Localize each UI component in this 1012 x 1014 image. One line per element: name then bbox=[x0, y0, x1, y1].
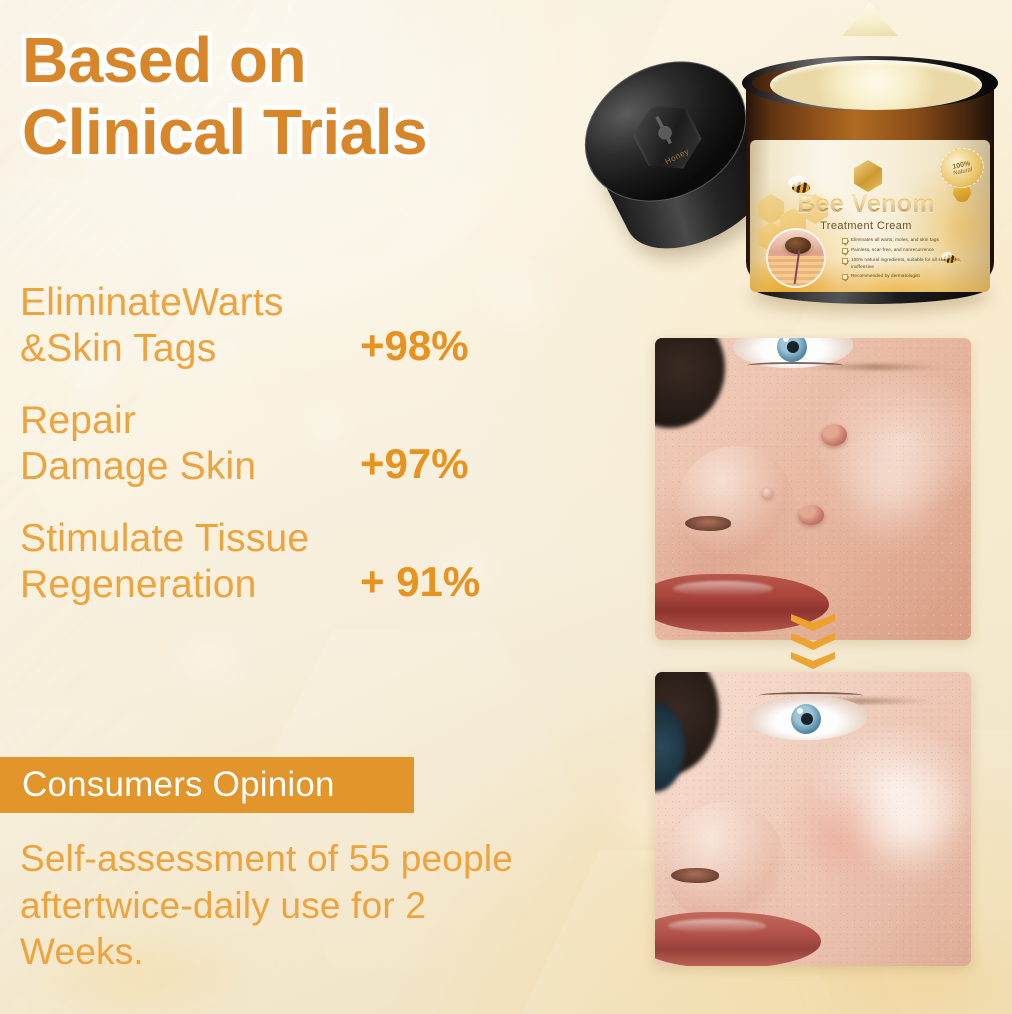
description-line2: aftertwice-daily use for 2 bbox=[20, 883, 580, 930]
eyelash bbox=[747, 362, 843, 369]
checkbox-icon bbox=[842, 274, 848, 280]
consumers-opinion-label: Consumers Opinion bbox=[0, 765, 335, 805]
product-name: Bee Venom bbox=[776, 190, 956, 219]
feature-text: Eliminates all warts, moles, and skin ta… bbox=[851, 237, 939, 244]
benefit-percent: +98% bbox=[360, 322, 469, 372]
benefit-percent: +97% bbox=[360, 440, 469, 490]
product-feature-list: Eliminates all warts, moles, and skin ta… bbox=[842, 237, 984, 283]
bee-emblem-icon: Honey bbox=[625, 92, 710, 182]
jar-body: Bee Venom Treatment Cream 100% Natural E… bbox=[746, 20, 994, 316]
jar-rim-inner bbox=[752, 64, 980, 102]
lip-shine bbox=[668, 919, 766, 934]
benefit-label-line2: &Skin Tags bbox=[20, 326, 360, 372]
lip-shine bbox=[673, 581, 773, 596]
benefits-list: EliminateWarts &Skin Tags +98% Repair Da… bbox=[0, 280, 600, 630]
consumers-opinion-banner: Consumers Opinion bbox=[0, 757, 414, 813]
wart bbox=[821, 424, 847, 446]
eyelash bbox=[759, 692, 863, 699]
chevron-down-icon bbox=[791, 652, 835, 669]
benefit-label-line2: Damage Skin bbox=[20, 444, 360, 490]
description-line1: Self-assessment of 55 people bbox=[20, 836, 580, 883]
nostril bbox=[685, 516, 731, 531]
cheek-highlight bbox=[825, 428, 955, 548]
benefit-row: Repair Damage Skin +97% bbox=[0, 398, 600, 490]
list-item: Recommended by dermatologist bbox=[842, 273, 984, 280]
benefit-label: EliminateWarts &Skin Tags bbox=[0, 280, 360, 372]
wart bbox=[798, 505, 824, 525]
nose bbox=[665, 802, 785, 926]
cheek-highlight bbox=[843, 764, 971, 878]
skin-cross-section-diagram bbox=[766, 228, 826, 288]
cream-peak bbox=[842, 2, 898, 36]
feature-text: Recommended by dermatologist bbox=[851, 273, 920, 280]
feature-text: 100% natural ingredients, suitable for a… bbox=[851, 257, 984, 269]
benefit-label: Repair Damage Skin bbox=[0, 398, 360, 490]
cream-surface bbox=[770, 60, 982, 110]
list-item: Eliminates all warts, moles, and skin ta… bbox=[842, 237, 984, 244]
natural-badge: 100% Natural bbox=[936, 144, 987, 192]
chevron-down-icon bbox=[791, 614, 835, 631]
after-photo bbox=[655, 672, 971, 966]
lid-emblem-text: Honey bbox=[664, 147, 691, 167]
checkbox-icon bbox=[842, 258, 848, 264]
nose bbox=[677, 446, 795, 566]
brand-crest-icon bbox=[854, 160, 882, 192]
list-item: Painless, scar-free, and nonrecurrence bbox=[842, 247, 984, 254]
feature-text: Painless, scar-free, and nonrecurrence bbox=[851, 247, 934, 254]
product-label: Bee Venom Treatment Cream 100% Natural E… bbox=[750, 140, 990, 292]
eye-highlight bbox=[797, 708, 803, 714]
bee-icon bbox=[940, 252, 958, 264]
nostril bbox=[671, 868, 719, 883]
pupil bbox=[787, 341, 799, 353]
checkbox-icon bbox=[842, 248, 848, 254]
bee-icon bbox=[643, 110, 685, 151]
benefit-label-line1: Repair bbox=[20, 398, 360, 444]
page-title: Based on Clinical Trials bbox=[22, 24, 427, 169]
chevron-down-icon bbox=[791, 633, 835, 650]
wart bbox=[762, 488, 773, 498]
benefit-label: Stimulate Tissue Regeneration bbox=[0, 516, 360, 608]
checkbox-icon bbox=[842, 238, 848, 244]
before-photo bbox=[655, 338, 971, 640]
benefit-label-line1: Stimulate Tissue bbox=[20, 516, 360, 562]
benefit-row: Stimulate Tissue Regeneration + 91% bbox=[0, 516, 600, 608]
benefit-row: EliminateWarts &Skin Tags +98% bbox=[0, 280, 600, 372]
benefit-percent: + 91% bbox=[360, 558, 480, 608]
jar-rim bbox=[742, 56, 998, 110]
page-title-line2: Clinical Trials bbox=[22, 96, 427, 168]
consumers-opinion-description: Self-assessment of 55 people aftertwice-… bbox=[20, 836, 580, 976]
benefit-label-line2: Regeneration bbox=[20, 562, 360, 608]
eye bbox=[747, 696, 867, 740]
list-item: 100% natural ingredients, suitable for a… bbox=[842, 257, 984, 269]
triple-chevron-down-icon bbox=[790, 614, 836, 674]
page-title-line1: Based on bbox=[22, 24, 427, 96]
description-line3: Weeks. bbox=[20, 929, 580, 976]
pupil bbox=[801, 713, 813, 725]
benefit-label-line1: EliminateWarts bbox=[20, 280, 360, 326]
product-image: Honey bbox=[588, 14, 1000, 326]
